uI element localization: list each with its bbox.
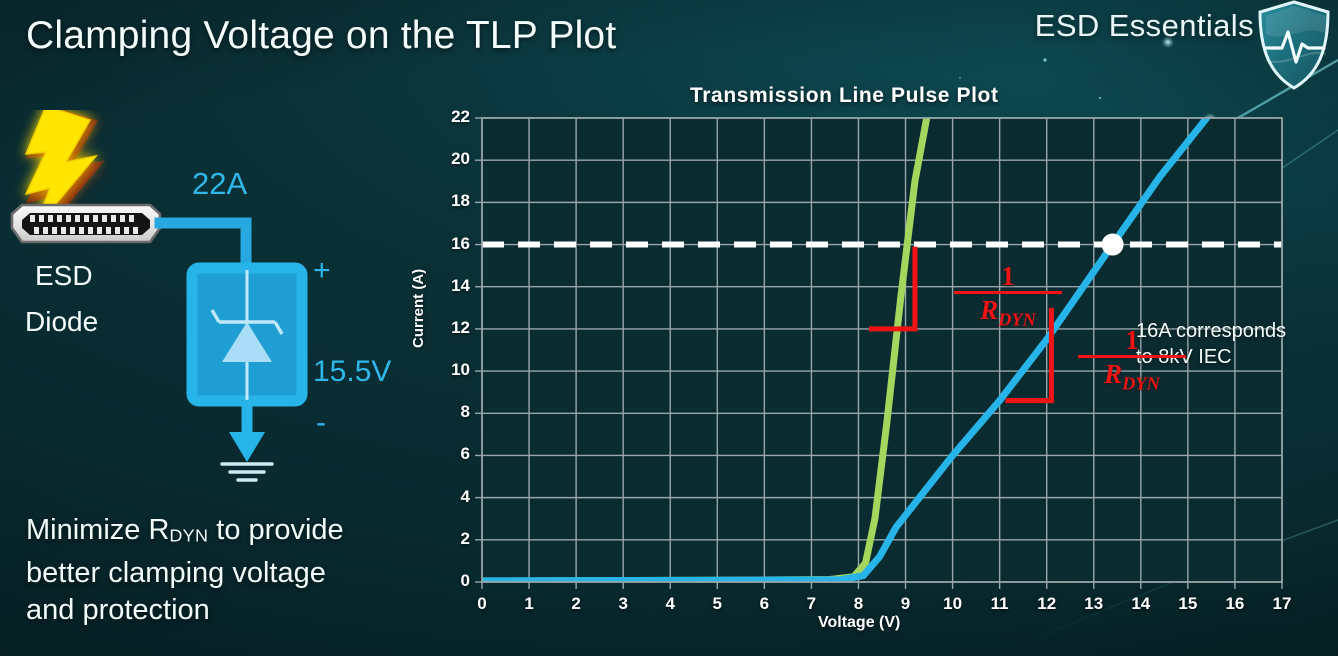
brand-label: ESD Essentials [1035, 8, 1254, 44]
x-tick-0: 0 [469, 594, 495, 614]
y-tick-22: 22 [436, 107, 470, 127]
slope-label-steep: 1 RDYN [954, 264, 1062, 334]
page-title: Clamping Voltage on the TLP Plot [26, 14, 616, 58]
x-tick-14: 14 [1128, 594, 1154, 614]
fraction-bar-2 [1078, 355, 1186, 358]
device-label-line2: Diode [25, 306, 98, 337]
shield-pulse-icon [1256, 0, 1332, 92]
x-tick-1: 1 [516, 594, 542, 614]
slope-denominator-2: RDYN [1078, 359, 1186, 398]
y-tick-6: 6 [436, 444, 470, 464]
y-axis-label: Current (A) [410, 269, 427, 348]
note-line3: and protection [26, 594, 210, 626]
note-line2: better clamping voltage [26, 557, 326, 589]
device-label-line1: ESD [35, 260, 93, 291]
x-tick-16: 16 [1222, 594, 1248, 614]
x-axis-label: Voltage (V) [818, 614, 900, 632]
chart-plot-area [418, 86, 1338, 656]
x-tick-17: 17 [1269, 594, 1295, 614]
x-tick-10: 10 [940, 594, 966, 614]
x-tick-8: 8 [845, 594, 871, 614]
note-line1-b: to provide [208, 514, 343, 546]
y-tick-14: 14 [436, 276, 470, 296]
slope-label-shallow: 1 RDYN [1078, 328, 1186, 398]
y-tick-0: 0 [436, 571, 470, 591]
hdmi-connector-icon [12, 205, 160, 242]
polarity-minus-label: - [316, 406, 326, 439]
x-tick-6: 6 [751, 594, 777, 614]
x-tick-13: 13 [1081, 594, 1107, 614]
data-marker-layer [1102, 234, 1124, 256]
ground-symbol-icon [222, 464, 272, 480]
current-arrow-icon [229, 432, 265, 462]
signal-wire [160, 223, 246, 268]
y-tick-16: 16 [436, 234, 470, 254]
esd-protection-circuit-diagram: 22A ESD Diode + 15.5V - [0, 110, 430, 510]
x-tick-15: 15 [1175, 594, 1201, 614]
tlp-chart: Transmission Line Pulse Plot Current (A)… [418, 86, 1338, 656]
slope-numerator-2: 1 [1078, 328, 1186, 352]
clamping-point-marker [1102, 234, 1124, 256]
x-tick-9: 9 [893, 594, 919, 614]
y-tick-2: 2 [436, 529, 470, 549]
slope-numerator-1: 1 [954, 264, 1062, 288]
x-tick-7: 7 [798, 594, 824, 614]
chart-title: Transmission Line Pulse Plot [690, 84, 999, 108]
current-label: 22A [192, 166, 247, 201]
voltage-label: 15.5V [313, 355, 391, 388]
x-tick-12: 12 [1034, 594, 1060, 614]
y-tick-12: 12 [436, 318, 470, 338]
fraction-bar-1 [954, 291, 1062, 294]
y-tick-8: 8 [436, 402, 470, 422]
slide-canvas: Clamping Voltage on the TLP Plot ESD Ess… [0, 0, 1338, 656]
note-line1-a: Minimize R [26, 514, 169, 546]
note-line1-subscript: DYN [169, 526, 208, 546]
x-tick-5: 5 [704, 594, 730, 614]
x-tick-2: 2 [563, 594, 589, 614]
polarity-plus-label: + [313, 254, 331, 287]
summary-note: Minimize RDYN to provide better clamping… [26, 512, 426, 629]
x-tick-11: 11 [987, 594, 1013, 614]
y-tick-10: 10 [436, 360, 470, 380]
y-tick-4: 4 [436, 487, 470, 507]
x-tick-3: 3 [610, 594, 636, 614]
x-tick-4: 4 [657, 594, 683, 614]
slope-denominator-1: RDYN [954, 295, 1062, 334]
y-tick-20: 20 [436, 149, 470, 169]
y-tick-18: 18 [436, 191, 470, 211]
